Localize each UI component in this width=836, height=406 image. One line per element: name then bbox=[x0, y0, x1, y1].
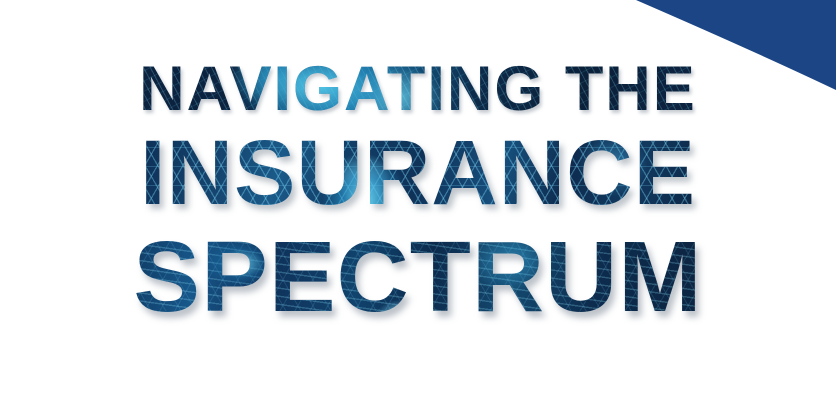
title-slide: NAVIGATING THE NAVIGATING THE INSURANCE … bbox=[0, 0, 836, 406]
slide-title-block: NAVIGATING THE NAVIGATING THE INSURANCE … bbox=[0, 58, 836, 327]
title-line-spectrum: SPECTRUM SPECTRUM bbox=[0, 227, 836, 327]
title-line-3-text: SPECTRUM bbox=[133, 221, 702, 333]
title-line-2-text: INSURANCE bbox=[140, 122, 696, 224]
title-line-navigating-the: NAVIGATING THE NAVIGATING THE bbox=[0, 58, 836, 121]
title-line-1-text: NAVIGATING THE bbox=[139, 54, 697, 124]
title-line-insurance: INSURANCE INSURANCE bbox=[0, 127, 836, 219]
